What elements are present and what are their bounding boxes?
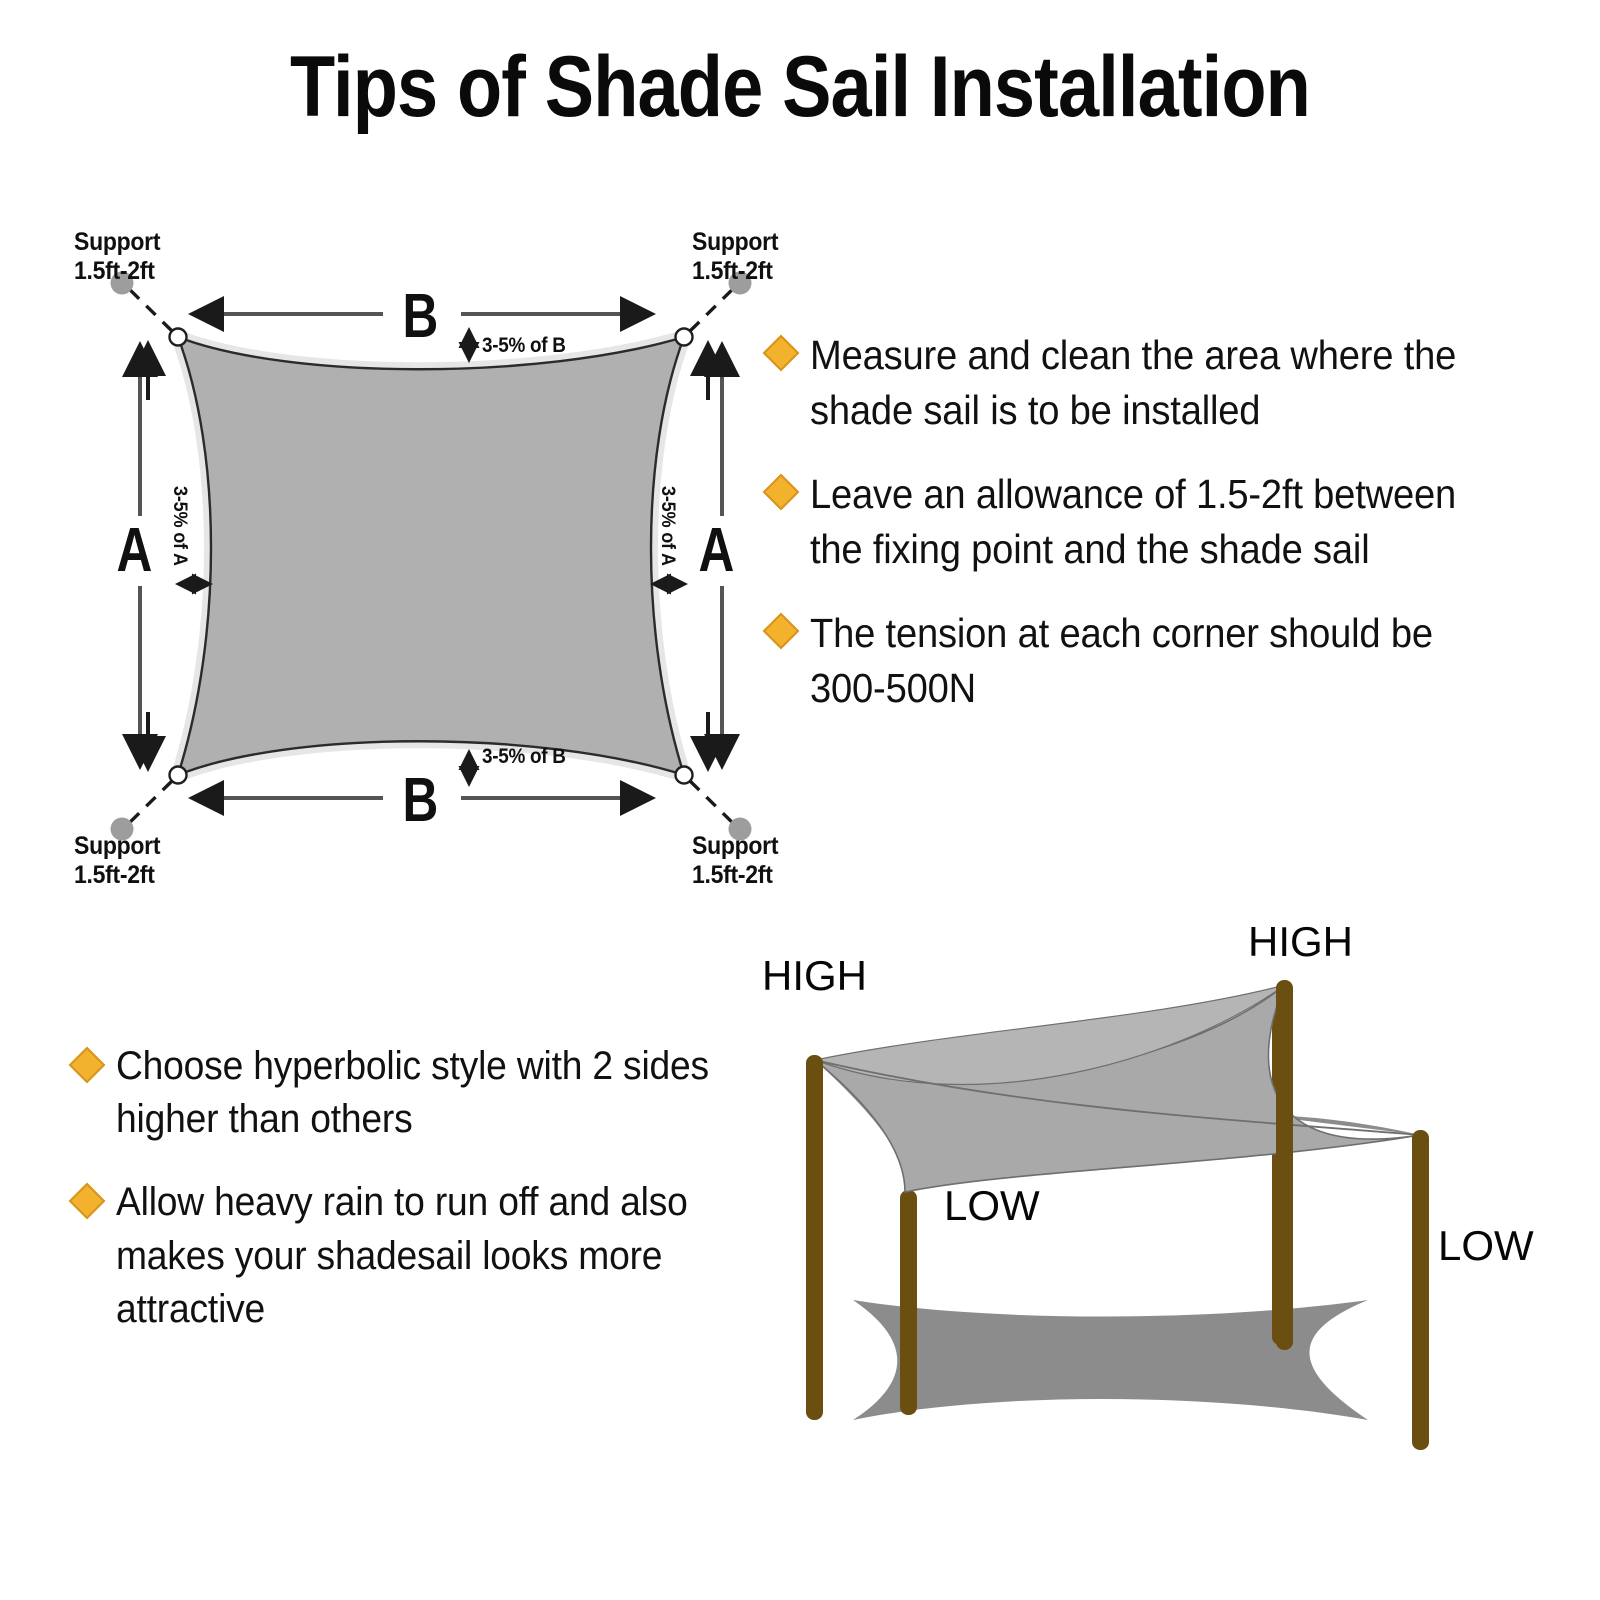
support-label-line1: Support	[74, 228, 160, 256]
tip-item: Leave an allowance of 1.5-2ft between th…	[768, 467, 1558, 576]
post-low-left	[900, 1190, 917, 1415]
curve-label-right: 3-5% of A	[656, 486, 678, 566]
tip-item: Measure and clean the area where the sha…	[768, 328, 1558, 437]
support-label-line1: Support	[692, 832, 778, 860]
sail-edge-glow	[178, 337, 684, 775]
post-label-low-left: LOW	[944, 1182, 1040, 1230]
page-title: Tips of Shade Sail Installation	[112, 44, 1488, 130]
post-low-right-rear	[1272, 1000, 1289, 1345]
support-label-line2: 1.5ft-2ft	[692, 861, 773, 889]
sail-panel-light	[815, 985, 1420, 1192]
curve-label-left: 3-5% of A	[168, 486, 190, 566]
tip-text: Allow heavy rain to run off and also mak…	[116, 1176, 728, 1336]
dimension-letter-a-right: A	[698, 515, 734, 586]
post-high-right	[1276, 980, 1293, 1350]
diamond-bullet-icon	[763, 335, 800, 372]
support-label-line2: 1.5ft-2ft	[692, 257, 773, 285]
shade-sail-shape	[178, 337, 684, 775]
tips-list-lower-left: Choose hyperbolic style with 2 sides hig…	[74, 1040, 774, 1366]
tip-item: Choose hyperbolic style with 2 sides hig…	[74, 1040, 774, 1146]
sail-corner-rings	[170, 329, 693, 784]
curve-label-bottom: 3-5% of B	[482, 745, 566, 769]
support-label-line2: 1.5ft-2ft	[74, 257, 155, 285]
tip-item: Allow heavy rain to run off and also mak…	[74, 1176, 774, 1336]
post-label-low-right: LOW	[1438, 1222, 1534, 1270]
dimension-letter-a-left: A	[116, 515, 152, 586]
tip-item: The tension at each corner should be 300…	[768, 606, 1558, 715]
sail-panel-top-sheet	[815, 985, 1285, 1084]
diamond-bullet-icon	[69, 1047, 106, 1084]
ground-shadow	[853, 1300, 1368, 1420]
post-label-high-right: HIGH	[1248, 918, 1353, 966]
dimension-letter-b-bottom: B	[402, 765, 438, 836]
support-label-top-right: Support 1.5ft-2ft	[692, 228, 778, 285]
support-label-bottom-left: Support 1.5ft-2ft	[74, 832, 160, 889]
support-tether-lines	[124, 284, 738, 828]
post-low-right	[1412, 1130, 1429, 1450]
tip-text: Choose hyperbolic style with 2 sides hig…	[116, 1040, 728, 1146]
support-label-top-left: Support 1.5ft-2ft	[74, 228, 160, 285]
support-label-line1: Support	[692, 228, 778, 256]
diamond-bullet-icon	[69, 1183, 106, 1220]
tips-list-upper-right: Measure and clean the area where the sha…	[768, 328, 1558, 745]
diamond-bullet-icon	[763, 474, 800, 511]
support-label-line1: Support	[74, 832, 160, 860]
support-label-bottom-right: Support 1.5ft-2ft	[692, 832, 778, 889]
support-allowance-arrows	[148, 344, 708, 768]
dimension-letter-b-top: B	[402, 281, 438, 352]
sail-panel-dark	[815, 1060, 1420, 1192]
post-label-high-left: HIGH	[762, 952, 867, 1000]
tip-text: Leave an allowance of 1.5-2ft between th…	[810, 467, 1506, 576]
sail-diagonal-seam	[815, 1060, 1420, 1135]
tip-text: Measure and clean the area where the sha…	[810, 328, 1506, 437]
tip-text: The tension at each corner should be 300…	[810, 606, 1506, 715]
support-label-line2: 1.5ft-2ft	[74, 861, 155, 889]
diamond-bullet-icon	[763, 613, 800, 650]
post-high-left	[806, 1055, 823, 1420]
curve-label-top: 3-5% of B	[482, 334, 566, 358]
